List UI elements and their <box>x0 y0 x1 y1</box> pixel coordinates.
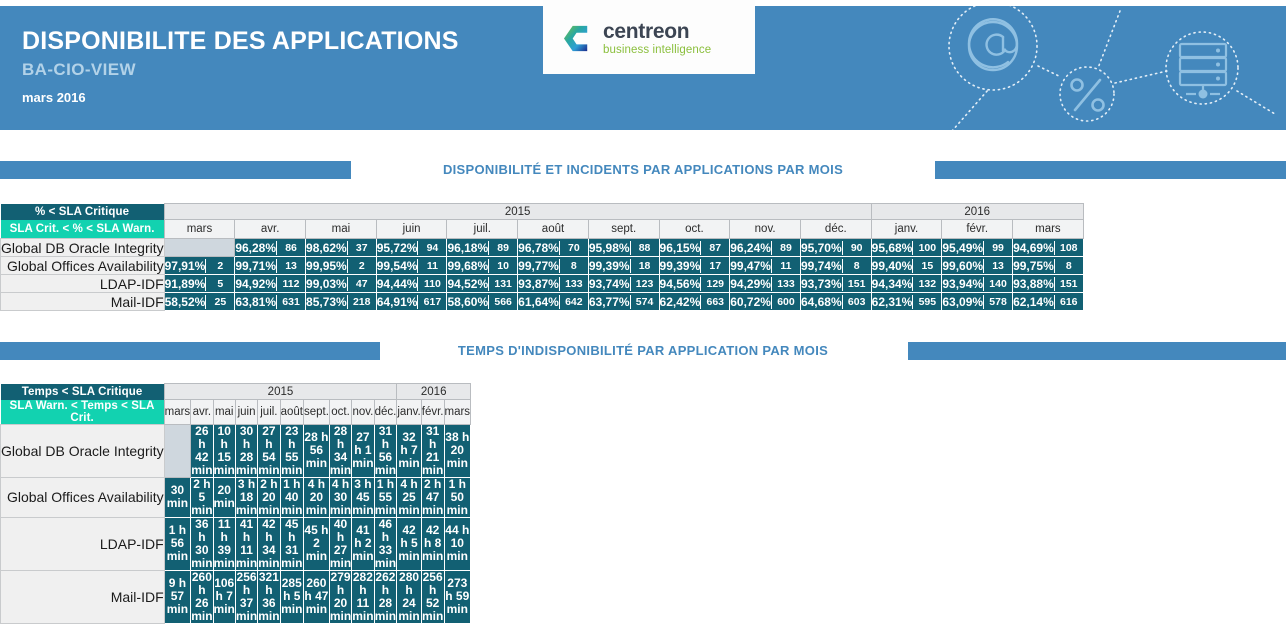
availability-percent: 93,73% <box>801 277 842 291</box>
table-row: Global Offices Availability97,91%299,71%… <box>1 257 1084 275</box>
data-cell: 94,52%131 <box>447 275 518 293</box>
downtime-value: 256 h 37 min <box>235 570 257 623</box>
data-cell: 93,88%151 <box>1013 275 1084 293</box>
table-row: Global DB Oracle Integrity96,28%8698,62%… <box>1 239 1084 257</box>
availability-percent: 61,64% <box>518 295 559 309</box>
month-header-juil: juil. <box>258 400 280 425</box>
incident-count: 129 <box>701 277 729 291</box>
incident-count: 8 <box>560 259 588 273</box>
data-cell: 63,81%631 <box>235 293 306 311</box>
table-bottom-edge <box>1 311 1084 316</box>
data-cell: 58,60%566 <box>447 293 518 311</box>
downtime-value: 42 h 5 min <box>397 517 421 570</box>
logo-wordmark: centreon <box>603 21 711 42</box>
downtime-value: 28 h 56 min <box>303 424 329 477</box>
availability-percent: 99,75% <box>1013 259 1054 273</box>
data-cell: 99,03%47 <box>306 275 377 293</box>
month-header-sept: sept. <box>588 220 659 239</box>
month-header-janv: janv. <box>397 400 421 425</box>
downtime-value: 4 h 25 min <box>397 477 421 517</box>
availability-percent: 97,91% <box>165 259 206 273</box>
availability-percent: 98,62% <box>306 241 347 255</box>
incident-count: 574 <box>631 295 659 309</box>
incident-count: 2 <box>206 259 234 273</box>
data-cell: 94,29%133 <box>730 275 801 293</box>
month-header-row: SLA Crit. < % < SLA Warn.marsavr.maijuin… <box>1 220 1084 239</box>
table-row: Global Offices Availability30 min2 h 5 m… <box>1 477 471 517</box>
incident-count: 133 <box>560 277 588 291</box>
year-label-2016: 2016 <box>871 204 1083 220</box>
downtime-value: 285 h 5 min <box>280 570 303 623</box>
availability-percent: 95,72% <box>377 241 418 255</box>
downtime-value: 282 h 11 min <box>352 570 374 623</box>
downtime-value: 4 h 20 min <box>303 477 329 517</box>
incident-count: 86 <box>277 241 305 255</box>
data-cell: 93,74%123 <box>588 275 659 293</box>
data-cell: 64,91%617 <box>376 293 447 311</box>
downtime-value: 260 h 47 min <box>303 570 329 623</box>
data-cell: 99,68%10 <box>447 257 518 275</box>
incident-count: 151 <box>1055 277 1083 291</box>
year-header-row: % < SLA Critique20152016 <box>1 204 1084 220</box>
row-label: Global Offices Availability <box>1 477 165 517</box>
downtime-value: 38 h 20 min <box>444 424 471 477</box>
data-cell: 99,71%13 <box>235 257 306 275</box>
data-cell: 97,91%2 <box>164 257 235 275</box>
availability-percent: 62,42% <box>660 295 701 309</box>
downtime-value: 262 h 28 min <box>374 570 397 623</box>
data-cell: 62,14%616 <box>1013 293 1084 311</box>
data-cell: 94,92%112 <box>235 275 306 293</box>
data-cell: 64,68%603 <box>800 293 871 311</box>
incident-count: 5 <box>206 277 234 291</box>
data-cell: 95,70%90 <box>800 239 871 257</box>
data-cell: 58,52%25 <box>164 293 235 311</box>
table-bottom-cell <box>1 623 471 628</box>
availability-percent: 63,09% <box>942 295 983 309</box>
month-header-mai: mai <box>306 220 377 239</box>
downtime-value: 42 h 8 min <box>421 517 444 570</box>
year-label-2016: 2016 <box>397 384 471 400</box>
month-header-nov: nov. <box>730 220 801 239</box>
downtime-value: 4 h 30 min <box>329 477 351 517</box>
incident-count: 89 <box>489 241 517 255</box>
data-cell: 63,09%578 <box>942 293 1013 311</box>
incident-count: 631 <box>277 295 305 309</box>
data-cell: 94,69%108 <box>1013 239 1084 257</box>
availability-percent: 93,87% <box>518 277 559 291</box>
header-decoration <box>930 6 1286 130</box>
data-cell: 95,49%99 <box>942 239 1013 257</box>
incident-count: 132 <box>913 277 941 291</box>
availability-percent: 85,73% <box>306 295 347 309</box>
downtime-value: 30 h 28 min <box>235 424 257 477</box>
availability-percent: 96,18% <box>447 241 488 255</box>
availability-percent: 96,78% <box>518 241 559 255</box>
downtime-value: 41 h 2 min <box>352 517 374 570</box>
availability-percent: 63,81% <box>235 295 276 309</box>
row-label: Global DB Oracle Integrity <box>1 424 165 477</box>
data-cell: 96,24%89 <box>730 239 801 257</box>
downtime-value: 46 h 33 min <box>374 517 397 570</box>
availability-percent: 62,14% <box>1013 295 1054 309</box>
data-cell: 95,68%100 <box>871 239 942 257</box>
incident-count: 600 <box>772 295 800 309</box>
availability-percent: 95,68% <box>872 241 913 255</box>
month-header-mars: mars <box>164 400 191 425</box>
downtime-value: 1 h 40 min <box>280 477 303 517</box>
data-cell: 96,15%87 <box>659 239 730 257</box>
data-cell: 94,56%129 <box>659 275 730 293</box>
month-header-avr: avr. <box>235 220 306 239</box>
availability-percent: 96,15% <box>660 241 701 255</box>
table-row: Mail-IDF9 h 57 min260 h 26 min106 h 7 mi… <box>1 570 471 623</box>
availability-percent: 62,31% <box>872 295 913 309</box>
data-cell: 62,31%595 <box>871 293 942 311</box>
downtime-value: 31 h 56 min <box>374 424 397 477</box>
year-label-2015: 2015 <box>164 384 397 400</box>
incident-count: 13 <box>277 259 305 273</box>
incident-count: 131 <box>489 277 517 291</box>
data-cell: 98,62%37 <box>306 239 377 257</box>
availability-percent: 96,24% <box>730 241 771 255</box>
incident-count: 10 <box>489 259 517 273</box>
incident-count: 13 <box>984 259 1012 273</box>
table-row: LDAP-IDF91,89%594,92%11299,03%4794,44%11… <box>1 275 1084 293</box>
incident-count: 603 <box>843 295 871 309</box>
incident-count: 566 <box>489 295 517 309</box>
data-cell: 96,78%70 <box>518 239 589 257</box>
incident-count: 663 <box>701 295 729 309</box>
availability-percent: 64,91% <box>377 295 418 309</box>
availability-percent: 94,56% <box>660 277 701 291</box>
section-1-heading: DISPONIBILITÉ ET INCIDENTS PAR APPLICATI… <box>0 160 1286 179</box>
downtime-value: 1 h 56 min <box>164 517 191 570</box>
availability-percent: 99,39% <box>660 259 701 273</box>
availability-percent: 95,49% <box>942 241 983 255</box>
legend-critical: Temps < SLA Critique <box>1 384 165 400</box>
availability-percent: 94,34% <box>872 277 913 291</box>
availability-percent: 93,88% <box>1013 277 1054 291</box>
data-cell: 99,60%13 <box>942 257 1013 275</box>
data-cell: 93,73%151 <box>800 275 871 293</box>
incident-count: 616 <box>1055 295 1083 309</box>
row-label: LDAP-IDF <box>1 517 165 570</box>
incident-count: 8 <box>843 259 871 273</box>
month-header-avr: avr. <box>191 400 213 425</box>
incident-count: 100 <box>913 241 941 255</box>
row-label: Mail-IDF <box>1 293 165 311</box>
banner-text-block: DISPONIBILITE DES APPLICATIONS BA-CIO-VI… <box>22 26 459 108</box>
logo-tagline: business intelligence <box>603 45 711 57</box>
downtime-value: 256 h 52 min <box>421 570 444 623</box>
section-2-title-row: TEMPS D'INDISPONIBILITÉ PAR APPLICATION … <box>0 342 1286 360</box>
downtime-value: 321 h 36 min <box>258 570 280 623</box>
centreon-logo: centreon business intelligence <box>563 21 711 57</box>
downtime-value: 36 h 30 min <box>191 517 213 570</box>
page-title: DISPONIBILITE DES APPLICATIONS <box>22 26 459 56</box>
downtime-value: 9 h 57 min <box>164 570 191 623</box>
table-row: Global DB Oracle Integrity26 h 42 min10 … <box>1 424 471 477</box>
incident-count: 99 <box>984 241 1012 255</box>
row-label: Global DB Oracle Integrity <box>1 239 165 257</box>
data-cell: 99,47%11 <box>730 257 801 275</box>
data-cell: 99,39%18 <box>588 257 659 275</box>
downtime-value: 260 h 26 min <box>191 570 213 623</box>
data-cell: 93,87%133 <box>518 275 589 293</box>
incident-count: 151 <box>843 277 871 291</box>
legend-critical: % < SLA Critique <box>1 204 165 220</box>
incident-count: 123 <box>631 277 659 291</box>
month-header-row: SLA Warn. < Temps < SLA Crit.marsavr.mai… <box>1 400 471 425</box>
incident-count: 89 <box>772 241 800 255</box>
availability-percent: 94,52% <box>447 277 488 291</box>
incident-count: 617 <box>418 295 446 309</box>
downtime-value: 273 h 59 min <box>444 570 471 623</box>
table-bottom-cell <box>1 311 1084 316</box>
availability-percent: 96,28% <box>235 241 276 255</box>
downtime-value: 30 min <box>164 477 191 517</box>
month-header-août: août <box>280 400 303 425</box>
downtime-value: 1 h 50 min <box>444 477 471 517</box>
month-header-févr: févr. <box>942 220 1013 239</box>
centreon-c-logo-icon <box>563 23 594 54</box>
downtime-value: 31 h 21 min <box>421 424 444 477</box>
month-header-janv: janv. <box>871 220 942 239</box>
downtime-value: 44 h 10 min <box>444 517 471 570</box>
month-header-juin: juin <box>376 220 447 239</box>
incident-count: 90 <box>843 241 871 255</box>
row-label: Mail-IDF <box>1 570 165 623</box>
availability-percent: 60,72% <box>730 295 771 309</box>
table-row: LDAP-IDF1 h 56 min36 h 30 min11 h 39 min… <box>1 517 471 570</box>
availability-percent: 93,94% <box>942 277 983 291</box>
downtime-value: 26 h 42 min <box>191 424 213 477</box>
data-cell: 91,89%5 <box>164 275 235 293</box>
month-header-févr: févr. <box>421 400 444 425</box>
incident-count: 18 <box>631 259 659 273</box>
downtime-value: 279 h 20 min <box>329 570 351 623</box>
downtime-value: 1 h 55 min <box>374 477 397 517</box>
month-header-déc: déc. <box>374 400 397 425</box>
availability-percent: 95,98% <box>589 241 630 255</box>
availability-percent: 99,71% <box>235 259 276 273</box>
month-header-nov: nov. <box>352 400 374 425</box>
legend-warning: SLA Warn. < Temps < SLA Crit. <box>1 400 165 425</box>
incident-count: 2 <box>348 259 376 273</box>
availability-table: % < SLA Critique20152016SLA Crit. < % < … <box>0 203 1084 316</box>
downtime-value: 106 h 7 min <box>213 570 235 623</box>
incident-count: 133 <box>772 277 800 291</box>
month-header-mars: mars <box>1013 220 1084 239</box>
incident-count: 110 <box>418 277 446 291</box>
month-header-sept: sept. <box>303 400 329 425</box>
availability-percent: 99,95% <box>306 259 347 273</box>
row-label: LDAP-IDF <box>1 275 165 293</box>
data-cell: 85,73%218 <box>306 293 377 311</box>
data-cell: 96,28%86 <box>235 239 306 257</box>
data-cell: 99,54%11 <box>376 257 447 275</box>
downtime-value: 20 min <box>213 477 235 517</box>
availability-percent: 58,60% <box>447 295 488 309</box>
incident-count: 8 <box>1055 259 1083 273</box>
report-period: mars 2016 <box>22 88 459 108</box>
availability-percent: 94,44% <box>377 277 418 291</box>
downtime-value: 2 h 47 min <box>421 477 444 517</box>
downtime-value: 42 h 34 min <box>258 517 280 570</box>
data-cell <box>164 239 235 257</box>
downtime-value: 27 h 1 min <box>352 424 374 477</box>
incident-count: 87 <box>701 241 729 255</box>
incident-count: 578 <box>984 295 1012 309</box>
data-cell: 94,34%132 <box>871 275 942 293</box>
downtime-value: 28 h 34 min <box>329 424 351 477</box>
incident-count: 218 <box>348 295 376 309</box>
availability-percent: 95,70% <box>801 241 842 255</box>
data-cell: 99,39%17 <box>659 257 730 275</box>
year-label-2015: 2015 <box>164 204 871 220</box>
downtime-value: 23 h 55 min <box>280 424 303 477</box>
availability-percent: 94,29% <box>730 277 771 291</box>
availability-percent: 99,47% <box>730 259 771 273</box>
page-subtitle: BA-CIO-VIEW <box>22 58 459 82</box>
downtime-value: 3 h 18 min <box>235 477 257 517</box>
month-header-déc: déc. <box>800 220 871 239</box>
incident-count: 17 <box>701 259 729 273</box>
month-header-oct: oct. <box>329 400 351 425</box>
downtime-value: 280 h 24 min <box>397 570 421 623</box>
month-header-oct: oct. <box>659 220 730 239</box>
availability-percent: 58,52% <box>165 295 206 309</box>
incident-count: 11 <box>772 259 800 273</box>
availability-percent: 64,68% <box>801 295 842 309</box>
table-row: Mail-IDF58,52%2563,81%63185,73%21864,91%… <box>1 293 1084 311</box>
incident-count: 108 <box>1055 241 1083 255</box>
data-cell: 99,74%8 <box>800 257 871 275</box>
downtime-table: Temps < SLA Critique20152016SLA Warn. < … <box>0 383 471 628</box>
incident-count: 11 <box>418 259 446 273</box>
availability-percent: 99,54% <box>377 259 418 273</box>
downtime-value: 40 h 27 min <box>329 517 351 570</box>
table-bottom-edge <box>1 623 471 628</box>
incident-count: 112 <box>277 277 305 291</box>
availability-percent: 99,68% <box>447 259 488 273</box>
data-cell: 99,77%8 <box>518 257 589 275</box>
downtime-value: 3 h 45 min <box>352 477 374 517</box>
data-cell <box>164 424 191 477</box>
incident-count: 37 <box>348 241 376 255</box>
incident-count: 642 <box>560 295 588 309</box>
availability-percent: 99,77% <box>518 259 559 273</box>
month-header-mars: mars <box>444 400 471 425</box>
incident-count: 595 <box>913 295 941 309</box>
availability-percent: 94,69% <box>1013 241 1054 255</box>
legend-warning: SLA Crit. < % < SLA Warn. <box>1 220 165 239</box>
data-cell: 95,98%88 <box>588 239 659 257</box>
incident-count: 94 <box>418 241 446 255</box>
year-header-row: Temps < SLA Critique20152016 <box>1 384 471 400</box>
month-header-août: août <box>518 220 589 239</box>
data-cell: 95,72%94 <box>376 239 447 257</box>
data-cell: 62,42%663 <box>659 293 730 311</box>
incident-count: 88 <box>631 241 659 255</box>
downtime-value: 41 h 11 min <box>235 517 257 570</box>
availability-percent: 99,60% <box>942 259 983 273</box>
incident-count: 25 <box>206 295 234 309</box>
downtime-value: 2 h 20 min <box>258 477 280 517</box>
data-cell: 99,40%15 <box>871 257 942 275</box>
incident-count: 70 <box>560 241 588 255</box>
downtime-value: 32 h 7 min <box>397 424 421 477</box>
month-header-juil: juil. <box>447 220 518 239</box>
row-label: Global Offices Availability <box>1 257 165 275</box>
data-cell: 61,64%642 <box>518 293 589 311</box>
availability-percent: 94,92% <box>235 277 276 291</box>
incident-count: 15 <box>913 259 941 273</box>
data-cell: 93,94%140 <box>942 275 1013 293</box>
data-cell: 63,77%574 <box>588 293 659 311</box>
data-cell: 96,18%89 <box>447 239 518 257</box>
availability-percent: 93,74% <box>589 277 630 291</box>
availability-percent: 99,39% <box>589 259 630 273</box>
availability-percent: 99,74% <box>801 259 842 273</box>
month-header-mars: mars <box>164 220 235 239</box>
section-2-heading: TEMPS D'INDISPONIBILITÉ PAR APPLICATION … <box>0 341 1286 360</box>
downtime-value: 27 h 54 min <box>258 424 280 477</box>
incident-count: 47 <box>348 277 376 291</box>
downtime-value: 10 h 15 min <box>213 424 235 477</box>
downtime-value: 11 h 39 min <box>213 517 235 570</box>
month-header-juin: juin <box>235 400 257 425</box>
availability-percent: 99,40% <box>872 259 913 273</box>
section-1-title-row: DISPONIBILITÉ ET INCIDENTS PAR APPLICATI… <box>0 161 1286 179</box>
data-cell: 60,72%600 <box>730 293 801 311</box>
downtime-value: 45 h 31 min <box>280 517 303 570</box>
availability-percent: 99,03% <box>306 277 347 291</box>
downtime-value: 2 h 5 min <box>191 477 213 517</box>
month-header-mai: mai <box>213 400 235 425</box>
data-cell: 94,44%110 <box>376 275 447 293</box>
availability-percent: 91,89% <box>165 277 206 291</box>
incident-count: 140 <box>984 277 1012 291</box>
data-cell: 99,75%8 <box>1013 257 1084 275</box>
data-cell: 99,95%2 <box>306 257 377 275</box>
availability-percent: 63,77% <box>589 295 630 309</box>
downtime-value: 45 h 2 min <box>303 517 329 570</box>
